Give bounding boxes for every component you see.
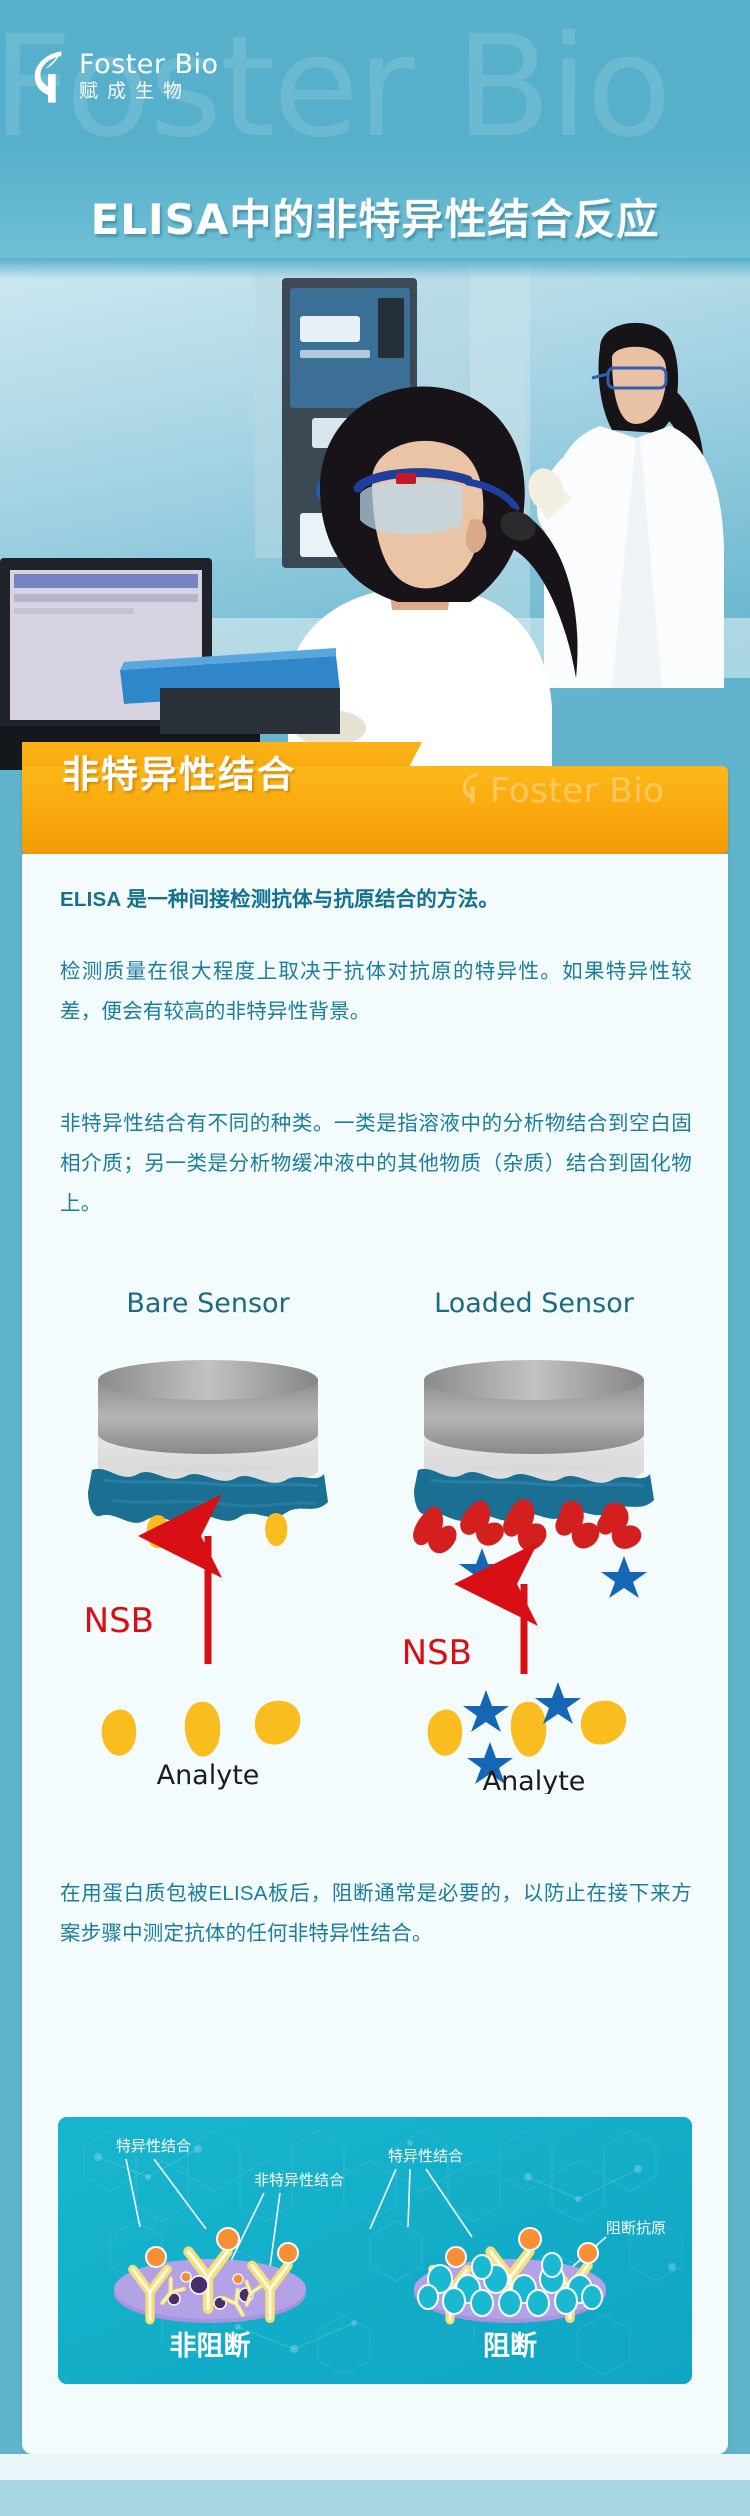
- page-header: Foster Bio Foster Bio 赋成生物 ELISA中的非特异性结合…: [0, 0, 750, 260]
- svg-text:阻断: 阻断: [483, 2331, 537, 2362]
- footer-strip: [0, 2480, 750, 2516]
- paragraph-types: 非特异性结合有不同的种类。一类是指溶液中的分析物结合到空白固相介质；另一类是分析…: [60, 1104, 692, 1224]
- paragraph-intro: ELISA 是一种间接检测抗体与抗原结合的方法。: [60, 880, 692, 920]
- content-card: ELISA 是一种间接检测抗体与抗原结合的方法。 检测质量在很大程度上取决于抗体…: [22, 854, 728, 2454]
- hero-photo: [0, 258, 750, 770]
- svg-text:非特异性结合: 非特异性结合: [254, 2171, 344, 2189]
- svg-text:Analyte: Analyte: [483, 1766, 586, 1794]
- nsb-diagram: Bare Sensor NSB: [42, 1284, 708, 1794]
- foster-bio-leaf-logo-icon: [30, 48, 68, 106]
- banner-watermark: Foster Bio: [460, 770, 664, 811]
- svg-text:NSB: NSB: [402, 1633, 472, 1673]
- svg-text:Bare Sensor: Bare Sensor: [126, 1288, 290, 1319]
- blocking-illustration-panel: 特异性结合 非特异性结合 非阻断: [58, 2117, 692, 2384]
- foster-bio-leaf-logo-icon: [460, 770, 482, 811]
- brand-logo-text: Foster Bio 赋成生物: [79, 51, 219, 102]
- brand-name-cn: 赋成生物: [79, 82, 219, 103]
- svg-text:Loaded Sensor: Loaded Sensor: [434, 1288, 635, 1319]
- svg-text:特异性结合: 特异性结合: [388, 2147, 463, 2165]
- brand-logo[interactable]: Foster Bio 赋成生物: [30, 48, 219, 106]
- brand-name-en: Foster Bio: [79, 51, 219, 79]
- svg-text:特异性结合: 特异性结合: [116, 2137, 191, 2155]
- svg-text:阻断抗原: 阻断抗原: [606, 2219, 666, 2237]
- banner-title: 非特异性结合: [62, 748, 296, 802]
- page-title: ELISA中的非特异性结合反应: [0, 186, 750, 247]
- svg-text:Analyte: Analyte: [157, 1760, 260, 1791]
- paragraph-blocking: 在用蛋白质包被ELISA板后，阻断通常是必要的，以防止在接下来方案步骤中测定抗体…: [60, 1874, 692, 1954]
- svg-text:NSB: NSB: [84, 1601, 154, 1641]
- banner-watermark-text: Foster Bio: [490, 771, 664, 811]
- svg-text:非阻断: 非阻断: [170, 2331, 251, 2362]
- paragraph-quality: 检测质量在很大程度上取决于抗体对抗原的特异性。如果特异性较差，便会有较高的非特异…: [60, 952, 692, 1032]
